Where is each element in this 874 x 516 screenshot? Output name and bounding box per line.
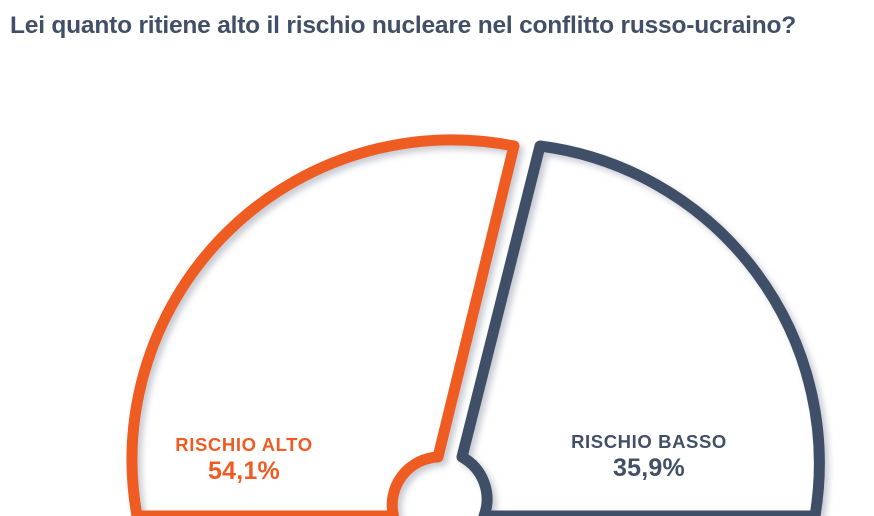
slice-label-name-high: RISCHIO ALTO — [128, 434, 360, 455]
slice-label-value-low: 35,9% — [534, 454, 764, 483]
chart-container: Lei quanto ritiene alto il rischio nucle… — [0, 0, 874, 516]
slice-label-name-low: RISCHIO BASSO — [534, 431, 764, 452]
slice-label-rischio-basso: RISCHIO BASSO 35,9% — [534, 431, 764, 483]
slice-label-value-high: 54,1% — [128, 457, 360, 486]
slice-label-rischio-alto: RISCHIO ALTO 54,1% — [128, 434, 360, 486]
